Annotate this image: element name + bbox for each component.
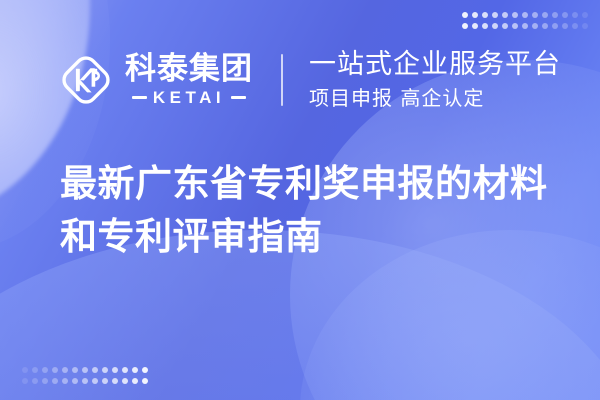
decorative-dot bbox=[102, 367, 108, 373]
decorative-dot bbox=[562, 12, 568, 18]
decorative-dot bbox=[482, 12, 488, 18]
top-right-dot-grid bbox=[462, 12, 588, 29]
decorative-dot bbox=[62, 378, 68, 384]
wordmark-rule-right-icon bbox=[231, 96, 246, 99]
decorative-dot bbox=[92, 378, 98, 384]
decorative-dot bbox=[472, 23, 478, 29]
decorative-dot bbox=[22, 378, 28, 384]
decorative-dot bbox=[572, 23, 578, 29]
decorative-dot bbox=[22, 367, 28, 373]
decorative-dot bbox=[512, 23, 518, 29]
decorative-dot bbox=[462, 12, 468, 18]
promo-banner: 科泰集团 KETAI 一站式企业服务平台 项目申报 高企认定 最新广东省专利奖申… bbox=[0, 0, 600, 400]
dot-row bbox=[462, 12, 588, 18]
decorative-dot bbox=[42, 378, 48, 384]
dot-row bbox=[22, 367, 148, 373]
decorative-dot bbox=[112, 378, 118, 384]
decorative-dot bbox=[132, 367, 138, 373]
decorative-dot bbox=[522, 23, 528, 29]
decorative-dot bbox=[142, 378, 148, 384]
banner-header: 科泰集团 KETAI 一站式企业服务平台 项目申报 高企认定 bbox=[58, 44, 561, 116]
header-divider bbox=[281, 54, 283, 106]
decorative-dot bbox=[492, 23, 498, 29]
tagline-sub: 项目申报 高企认定 bbox=[309, 85, 561, 111]
decorative-dot bbox=[462, 23, 468, 29]
dot-row bbox=[22, 378, 148, 384]
decorative-dot bbox=[72, 378, 78, 384]
decorative-dot bbox=[52, 367, 58, 373]
decorative-dot bbox=[542, 23, 548, 29]
decorative-dot bbox=[32, 367, 38, 373]
brand-logo-wordmark: 科泰集团 KETAI bbox=[125, 54, 253, 107]
decorative-dot bbox=[562, 23, 568, 29]
brand-name-cn: 科泰集团 bbox=[125, 54, 253, 86]
bottom-left-dot-grid bbox=[22, 367, 148, 384]
page-title: 最新广东省专利奖申报的材料和专利评审指南 bbox=[60, 158, 560, 263]
decorative-dot bbox=[62, 367, 68, 373]
decorative-dot bbox=[122, 367, 128, 373]
decorative-dot bbox=[552, 12, 558, 18]
tagline-block: 一站式企业服务平台 项目申报 高企认定 bbox=[309, 49, 561, 110]
decorative-dot bbox=[572, 12, 578, 18]
dot-row bbox=[462, 23, 588, 29]
decorative-dot bbox=[482, 23, 488, 29]
decorative-dot bbox=[472, 12, 478, 18]
tagline-main: 一站式企业服务平台 bbox=[309, 49, 561, 80]
decorative-dot bbox=[552, 23, 558, 29]
brand-name-en: KETAI bbox=[153, 89, 225, 106]
decorative-dot bbox=[42, 367, 48, 373]
decorative-dot bbox=[82, 367, 88, 373]
decorative-dot bbox=[102, 378, 108, 384]
decorative-dot bbox=[512, 12, 518, 18]
decorative-dot bbox=[122, 378, 128, 384]
decorative-dot bbox=[492, 12, 498, 18]
decorative-dot bbox=[32, 378, 38, 384]
decorative-dot bbox=[112, 367, 118, 373]
decorative-dot bbox=[142, 367, 148, 373]
decorative-dot bbox=[52, 378, 58, 384]
decorative-dot bbox=[132, 378, 138, 384]
brand-name-en-row: KETAI bbox=[125, 89, 253, 106]
decorative-dot bbox=[502, 12, 508, 18]
decorative-dot bbox=[72, 367, 78, 373]
brand-logo[interactable]: 科泰集团 KETAI bbox=[58, 52, 253, 108]
ketai-kt-diamond-logo-icon bbox=[58, 52, 114, 108]
decorative-dot bbox=[582, 23, 588, 29]
wordmark-rule-left-icon bbox=[132, 96, 147, 99]
decorative-dot bbox=[92, 367, 98, 373]
decorative-dot bbox=[532, 12, 538, 18]
decorative-dot bbox=[542, 12, 548, 18]
decorative-dot bbox=[82, 378, 88, 384]
decorative-dot bbox=[582, 12, 588, 18]
decorative-dot bbox=[522, 12, 528, 18]
decorative-dot bbox=[502, 23, 508, 29]
decorative-dot bbox=[532, 23, 538, 29]
